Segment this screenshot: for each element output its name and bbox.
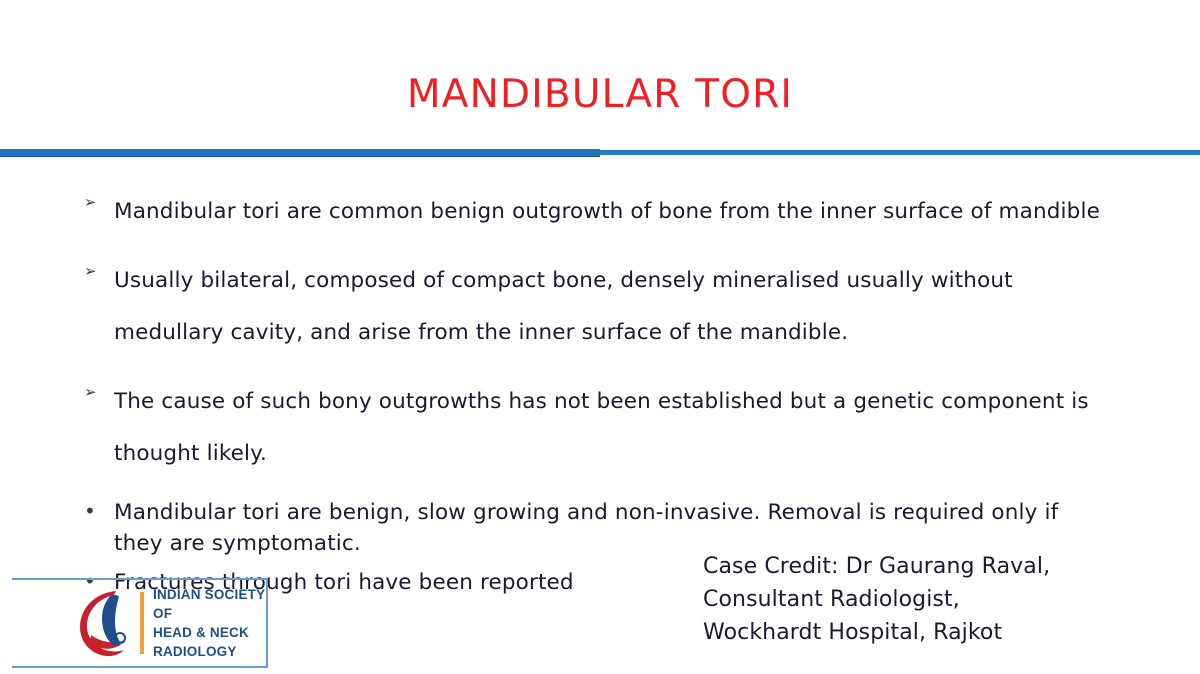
list-item-line1: Mandibular tori are benign, slow growing… (114, 500, 1058, 525)
list-item: ➢ Usually bilateral, composed of compact… (84, 255, 1134, 359)
divider-left-segment (0, 149, 600, 157)
case-credit-line3: Wockhardt Hospital, Rajkot (703, 616, 1050, 649)
list-item-line1: Usually bilateral, composed of compact b… (114, 268, 1013, 293)
list-item-text: Mandibular tori are common benign outgro… (114, 186, 1134, 238)
list-item: ➢ The cause of such bony outgrowths has … (84, 376, 1134, 480)
list-item-line1: Mandibular tori are common benign outgro… (114, 199, 1100, 224)
case-credit-line1: Case Credit: Dr Gaurang Raval, (703, 550, 1050, 583)
arrow-bullet-icon: ➢ (84, 376, 114, 400)
list-item-text: The cause of such bony outgrowths has no… (114, 376, 1134, 480)
page-title: MANDIBULAR TORI (0, 72, 1200, 117)
list-item-line1: The cause of such bony outgrowths has no… (114, 389, 1089, 414)
list-item-text: Usually bilateral, composed of compact b… (114, 255, 1134, 359)
list-item: ➢ Mandibular tori are common benign outg… (84, 186, 1134, 238)
logo-text-line1: INDIAN SOCIETY OF (153, 585, 266, 623)
case-credit: Case Credit: Dr Gaurang Raval, Consultan… (703, 550, 1050, 649)
logo-text-line3: RADIOLOGY (153, 642, 266, 661)
list-item-line2: medullary cavity, and arise from the inn… (114, 307, 1134, 359)
slide: MANDIBULAR TORI ➢ Mandibular tori are co… (0, 0, 1200, 674)
list-item-line2: thought likely. (114, 428, 1134, 480)
dot-bullet-icon: • (84, 497, 114, 521)
case-credit-line2: Consultant Radiologist, (703, 583, 1050, 616)
ishnr-logo-icon (74, 586, 136, 660)
divider-right-segment (600, 150, 1200, 155)
title-divider (0, 149, 1200, 157)
arrow-bullet-icon: ➢ (84, 255, 114, 279)
society-logo: INDIAN SOCIETY OF HEAD & NECK RADIOLOGY (12, 578, 268, 668)
arrow-bullet-icon: ➢ (84, 186, 114, 210)
logo-divider-bar (140, 592, 144, 654)
logo-text: INDIAN SOCIETY OF HEAD & NECK RADIOLOGY (153, 585, 266, 661)
bullet-list: ➢ Mandibular tori are common benign outg… (84, 186, 1134, 606)
logo-text-line2: HEAD & NECK (153, 623, 266, 642)
